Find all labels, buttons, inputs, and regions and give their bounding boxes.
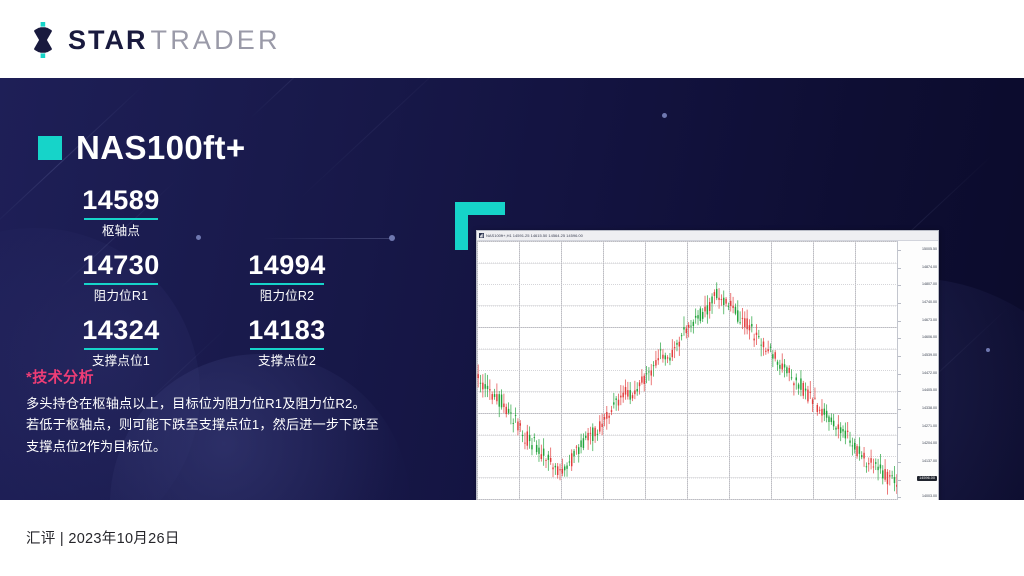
level-value: 14324	[38, 316, 204, 345]
analysis-line-1: 多头持仓在枢轴点以上，目标位为阻力位R1及阻力位R2。	[26, 393, 426, 414]
instrument-name: NAS100ft+	[76, 131, 246, 164]
technical-analysis: *技术分析 多头持仓在枢轴点以上，目标位为阻力位R1及阻力位R2。 若低于枢轴点…	[26, 366, 426, 457]
price-tick: 14472.00	[922, 372, 937, 376]
page-header: STAR TRADER	[0, 0, 1024, 78]
analysis-body: 多头持仓在枢轴点以上，目标位为阻力位R1及阻力位R2。 若低于枢轴点，则可能下跌…	[26, 393, 426, 457]
price-tick: 14874.00	[922, 266, 937, 270]
price-tick: 14338.00	[922, 407, 937, 411]
footer-caption: 汇评 | 2023年10月26日	[26, 527, 180, 548]
level-value: 14183	[204, 316, 370, 345]
level-label: 阻力位R1	[38, 289, 204, 304]
decor-streak	[300, 78, 469, 199]
price-tick: 14807.00	[922, 283, 937, 287]
square-bullet-icon	[38, 136, 62, 160]
chart-plot-area[interactable]	[477, 241, 898, 500]
level-value: 14589	[38, 186, 204, 215]
analysis-heading: *技术分析	[26, 366, 426, 387]
price-tick: 14271.00	[922, 425, 937, 429]
analysis-line-2: 若低于枢轴点，则可能下跌至支撑点位1，然后进一步下跌至	[26, 414, 426, 435]
metatrader-chart-window[interactable]: NAS100ft+,H1 14591.25 14615.50 14564.25 …	[476, 230, 939, 500]
price-tick: 14673.00	[922, 319, 937, 323]
level-resistance-2: 14994 阻力位R2	[204, 251, 370, 304]
level-value: 14730	[38, 251, 204, 280]
level-underline	[84, 348, 158, 350]
price-tick: 15005.50	[922, 248, 937, 252]
price-tick: 14740.00	[922, 301, 937, 305]
brand-trader: TRADER	[151, 27, 281, 54]
candlestick-series	[477, 241, 898, 500]
analysis-line-3: 支撑点位2作为目标位。	[26, 436, 426, 457]
level-underline	[84, 218, 158, 220]
brand-wordmark: STAR TRADER	[68, 27, 281, 54]
decor-dot	[986, 348, 990, 352]
levels-grid: 14589 枢轴点 14730 阻力位R1 14994 阻力位R2	[38, 186, 378, 381]
price-tick: 14606.00	[922, 336, 937, 340]
level-support-1: 14324 支撑点位1	[38, 316, 204, 369]
instrument-title: NAS100ft+	[38, 131, 246, 164]
level-value: 14994	[204, 251, 370, 280]
slide-root: STAR TRADER	[0, 0, 1024, 576]
level-support-2: 14183 支撑点位2	[204, 316, 370, 369]
brand-star: STAR	[68, 27, 148, 54]
price-tick: 14204.00	[922, 442, 937, 446]
levels-row-resistance: 14730 阻力位R1 14994 阻力位R2	[38, 251, 378, 316]
level-underline	[250, 283, 324, 285]
price-tick: 14003.00	[922, 495, 937, 499]
level-underline	[250, 348, 324, 350]
brand-logo[interactable]: STAR TRADER	[24, 22, 281, 58]
price-tick: 14137.00	[922, 460, 937, 464]
price-tick: 14405.00	[922, 389, 937, 393]
level-label: 枢轴点	[38, 224, 204, 239]
levels-row-pivot: 14589 枢轴点	[38, 186, 378, 251]
page-footer: 汇评 | 2023年10月26日	[0, 500, 1024, 576]
level-underline	[84, 283, 158, 285]
content-panel: NAS100ft+ 14589 枢轴点 14730 阻力位R1 14994	[0, 78, 1024, 500]
level-label: 阻力位R2	[204, 289, 370, 304]
chart-price-axis[interactable]: 15005.5014874.0014807.0014740.0014673.00…	[897, 241, 938, 500]
decor-dot	[662, 113, 667, 118]
level-pivot: 14589 枢轴点	[38, 186, 204, 239]
price-tick: 14539.00	[922, 354, 937, 358]
decor-dot	[389, 235, 395, 241]
star-burst-icon	[24, 21, 62, 59]
level-resistance-1: 14730 阻力位R1	[38, 251, 204, 304]
current-price-badge: 14596.00	[917, 476, 937, 482]
chart-titlebar: NAS100ft+,H1 14591.25 14615.50 14564.25 …	[477, 231, 938, 241]
chart-title-text: NAS100ft+,H1 14591.25 14615.50 14564.25 …	[486, 233, 583, 238]
chart-window-icon	[479, 233, 484, 238]
decor-streak	[250, 78, 338, 119]
